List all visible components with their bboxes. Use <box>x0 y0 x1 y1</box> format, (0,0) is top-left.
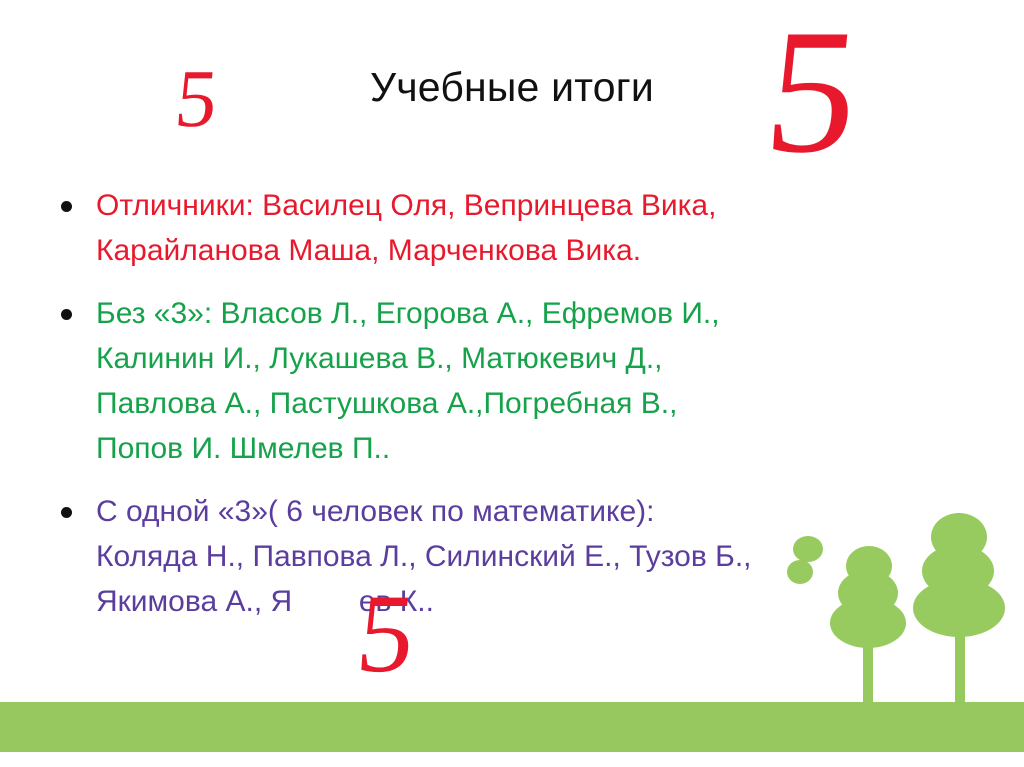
list-item: С одной «3»( 6 человек по математике): К… <box>0 489 1024 624</box>
slide-canvas: 5 5 Учебные итоги Отличники: Василец Оля… <box>0 0 1024 767</box>
list-item: Отличники: Василец Оля, Вепринцева Вика,… <box>0 183 1024 273</box>
bullet-text-no-threes: Без «3»: Власов Л., Егорова А., Ефремов … <box>96 291 1024 471</box>
bullet-text-one-three: С одной «3»( 6 человек по математике): К… <box>96 489 1024 624</box>
bullet-text-excellent-students: Отличники: Василец Оля, Вепринцева Вика,… <box>96 183 1024 273</box>
bullet-list: Отличники: Василец Оля, Вепринцева Вика,… <box>0 183 1024 642</box>
bullet-dot-icon <box>61 507 72 518</box>
bullet-dot-icon <box>61 309 72 320</box>
bottom-white-margin <box>0 752 1024 767</box>
bottom-green-band <box>0 702 1024 752</box>
list-item: Без «3»: Власов Л., Егорова А., Ефремов … <box>0 291 1024 471</box>
page-title: Учебные итоги <box>0 64 1024 111</box>
bullet-dot-icon <box>61 201 72 212</box>
